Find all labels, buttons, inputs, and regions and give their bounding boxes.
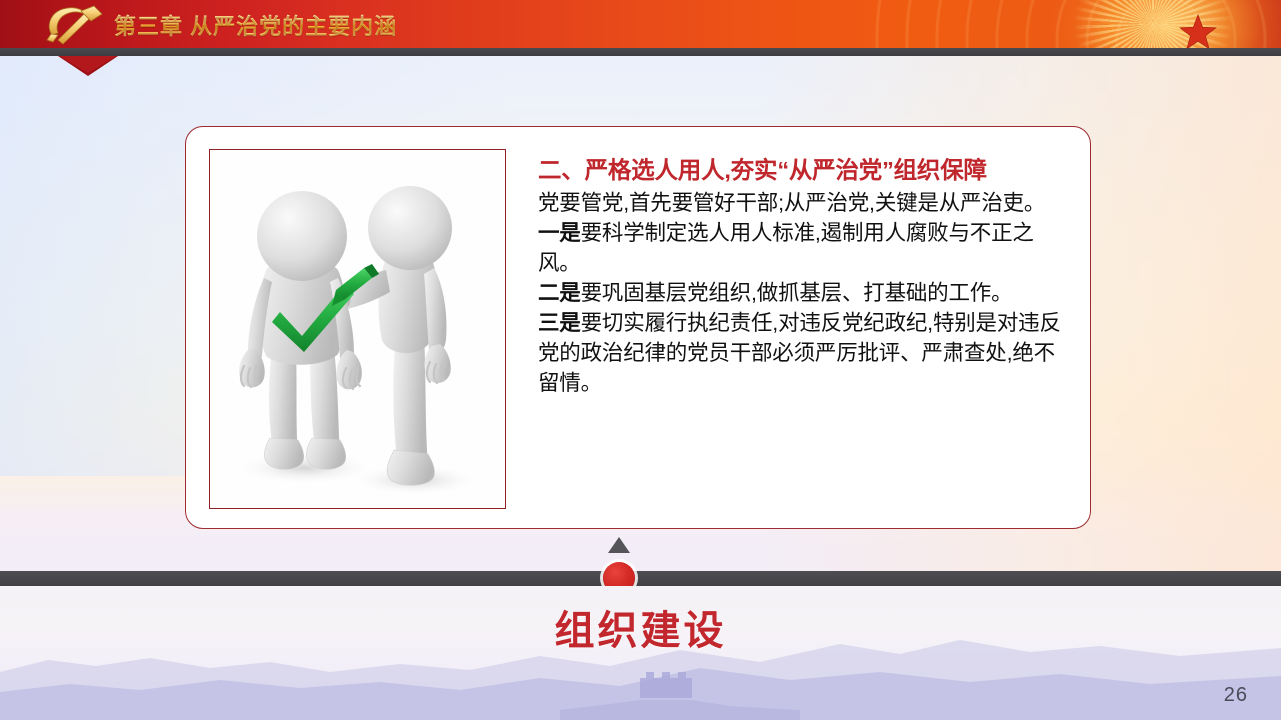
slide-canvas: 第三章 从严治党的主要内涵 <box>0 0 1281 720</box>
page-number: 26 <box>1224 684 1248 707</box>
card-paragraph-2-prefix: 一是 <box>538 221 581 245</box>
card-paragraph-3: 二是要巩固基层党组织,做抓基层、打基础的工作。 <box>538 278 1063 308</box>
header-underbar <box>0 48 1281 56</box>
card-paragraph-3-text: 要巩固基层党组织,做抓基层、打基础的工作。 <box>581 281 1013 305</box>
header-ring-decoration <box>861 0 1281 48</box>
card-paragraph-4-text: 要切实履行执纪责任,对违反党纪政纪,特别是对违反党的政治纪律的党员干部必须严厉批… <box>538 311 1061 395</box>
card-paragraph-4-prefix: 三是 <box>538 311 581 335</box>
card-paragraph-3-prefix: 二是 <box>538 281 581 305</box>
divider-bar <box>0 571 1281 586</box>
slide-header: 第三章 从严治党的主要内涵 <box>0 0 1281 48</box>
card-heading: 二、严格选人用人,夯实“从严治党”组织保障 <box>538 155 1063 186</box>
card-paragraph-4: 三是要切实履行执纪责任,对违反党纪政纪,特别是对违反党的政治纪律的党员干部必须严… <box>538 308 1063 398</box>
up-triangle-marker-icon <box>608 537 630 553</box>
card-text-column: 二、严格选人用人,夯实“从严治党”组织保障 党要管党,首先要管好干部;从严治党,… <box>538 155 1063 398</box>
card-paragraph-1: 党要管党,首先要管好干部;从严治党,关键是从严治吏。 <box>538 188 1063 218</box>
card-paragraph-2-text: 要科学制定选人用人标准,遏制用人腐败与不正之风。 <box>538 221 1034 275</box>
chapter-title: 第三章 从严治党的主要内涵 <box>114 9 397 41</box>
two-3d-figures-green-checkmark-illustration-icon <box>210 150 506 509</box>
content-card: 二、严格选人用人,夯实“从严治党”组织保障 党要管党,首先要管好干部;从严治党,… <box>185 126 1091 529</box>
illustration-frame <box>209 149 506 509</box>
card-paragraph-1-text: 党要管党,首先要管好干部;从严治党,关键是从严治吏。 <box>538 191 1045 215</box>
card-paragraph-2: 一是要科学制定选人用人标准,遏制用人腐败与不正之风。 <box>538 218 1063 278</box>
header-ribbon-tail-inner <box>60 56 116 73</box>
section-title: 组织建设 <box>0 598 1281 656</box>
cpc-hammer-sickle-emblem-icon <box>36 2 110 46</box>
